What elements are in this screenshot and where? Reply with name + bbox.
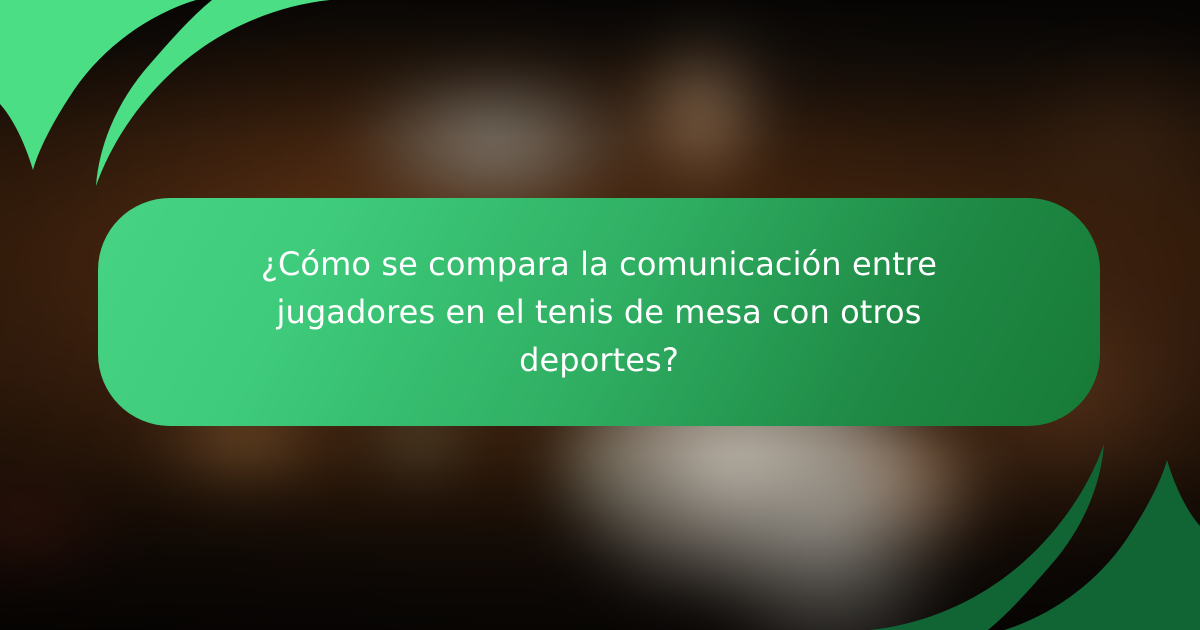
question-card: ¿Cómo se compara la comunicación entre j… [98, 198, 1100, 426]
social-card-canvas: ¿Cómo se compara la comunicación entre j… [0, 0, 1200, 630]
question-text: ¿Cómo se compara la comunicación entre j… [209, 240, 989, 384]
swoosh-blob-shape [1004, 460, 1200, 630]
green-swoosh-bottom-right [870, 400, 1200, 630]
green-swoosh-top-left [0, 0, 330, 230]
swoosh-blob-shape [0, 0, 196, 170]
